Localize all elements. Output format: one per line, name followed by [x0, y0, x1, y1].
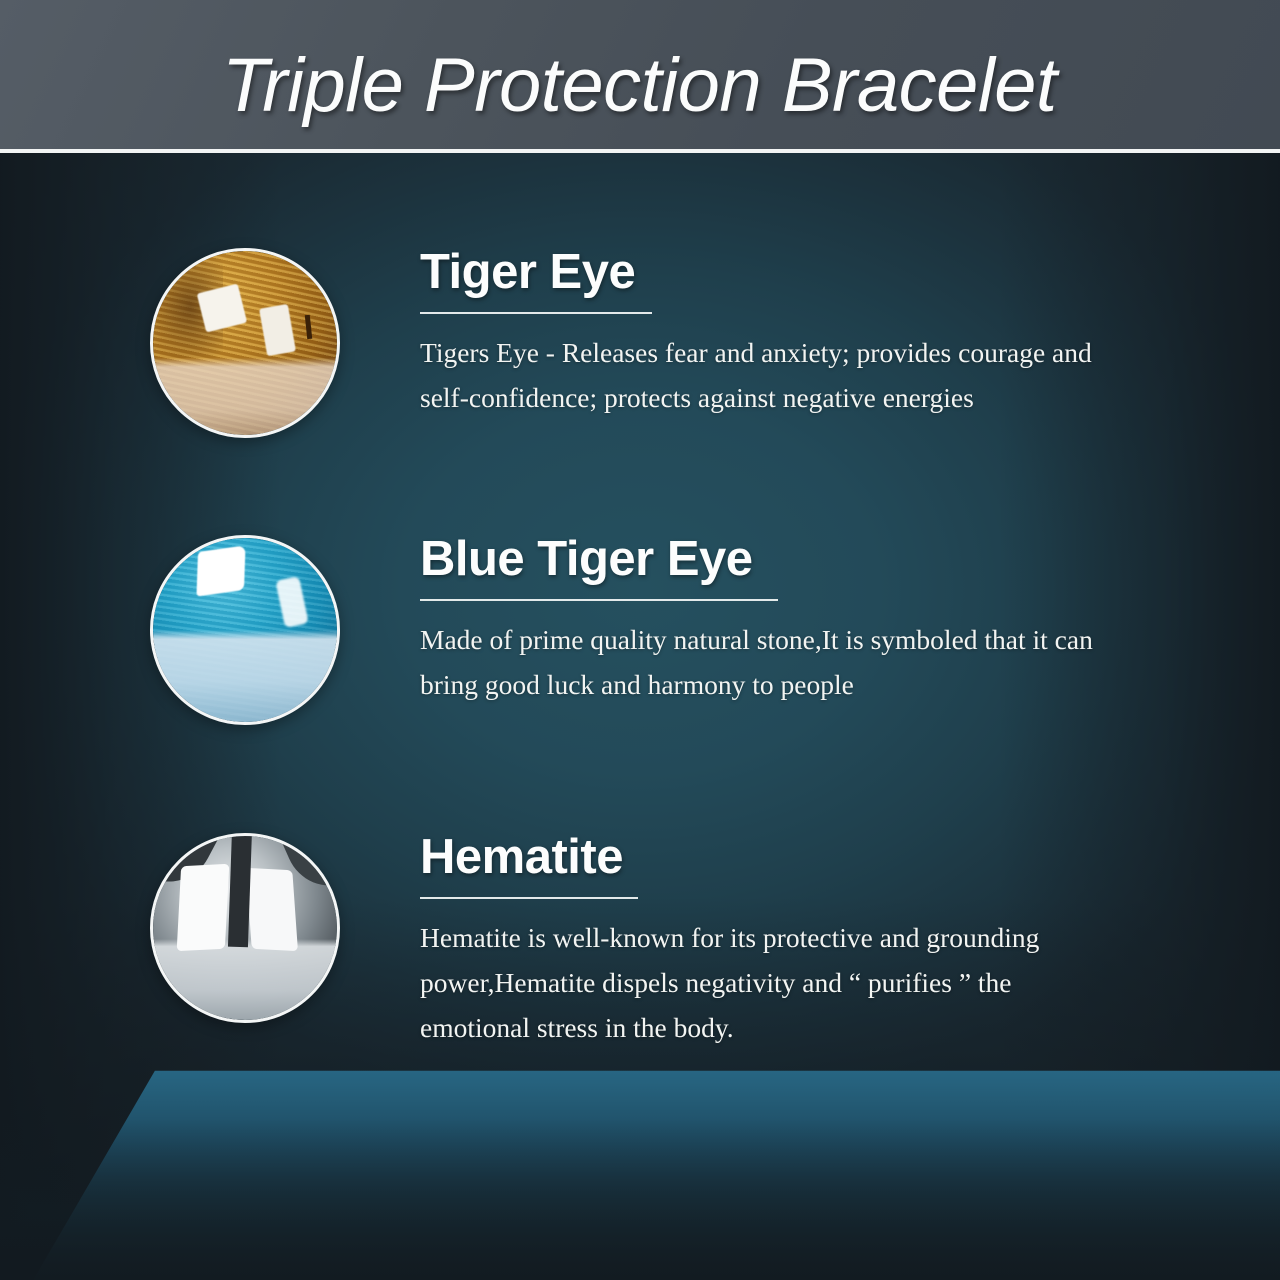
bead-surface [153, 251, 337, 435]
stone-text-column: Tiger Eye Tigers Eye - Releases fear and… [420, 248, 1120, 420]
bead-highlight-primary [176, 864, 228, 951]
title-underline-rule [420, 599, 778, 601]
bead-highlight-secondary [246, 868, 298, 951]
bead-highlight-primary [197, 283, 248, 333]
bead-highlight-primary [197, 545, 246, 596]
stone-title: Tiger Eye [420, 248, 1120, 298]
bead-image-wrapper [150, 248, 340, 438]
stone-section-hematite: Hematite Hematite is well-known for its … [150, 833, 1120, 1050]
bead-dark-streak [228, 836, 252, 947]
bead-image-wrapper [150, 833, 340, 1023]
title-underline-rule [420, 897, 638, 899]
stone-description: Hematite is well-known for its protectiv… [420, 915, 1120, 1050]
stone-title: Hematite [420, 833, 1120, 883]
bead-surface [153, 538, 337, 722]
stone-section-blue-tiger-eye: Blue Tiger Eye Made of prime quality nat… [150, 535, 1120, 725]
blue-tiger-eye-bead-icon [150, 535, 340, 725]
tiger-eye-bead-icon [150, 248, 340, 438]
product-infographic: Triple Protection Bracelet Tiger Eye Tig… [0, 0, 1280, 1280]
header-banner: Triple Protection Bracelet [0, 0, 1280, 153]
bottom-stage-platform [0, 1050, 1280, 1280]
stone-title: Blue Tiger Eye [420, 535, 1120, 585]
stone-description: Made of prime quality natural stone,It i… [420, 617, 1120, 707]
stone-description: Tigers Eye - Releases fear and anxiety; … [420, 330, 1120, 420]
title-underline-rule [420, 312, 652, 314]
page-title: Triple Protection Bracelet [222, 42, 1057, 129]
stone-text-column: Hematite Hematite is well-known for its … [420, 833, 1120, 1050]
stone-text-column: Blue Tiger Eye Made of prime quality nat… [420, 535, 1120, 707]
bead-dark-streak [304, 315, 311, 339]
bead-surface [153, 836, 337, 1020]
bead-highlight-secondary [275, 577, 308, 629]
bead-image-wrapper [150, 535, 340, 725]
hematite-bead-icon [150, 833, 340, 1023]
bead-highlight-secondary [259, 304, 296, 356]
stone-section-tiger-eye: Tiger Eye Tigers Eye - Releases fear and… [150, 248, 1120, 438]
